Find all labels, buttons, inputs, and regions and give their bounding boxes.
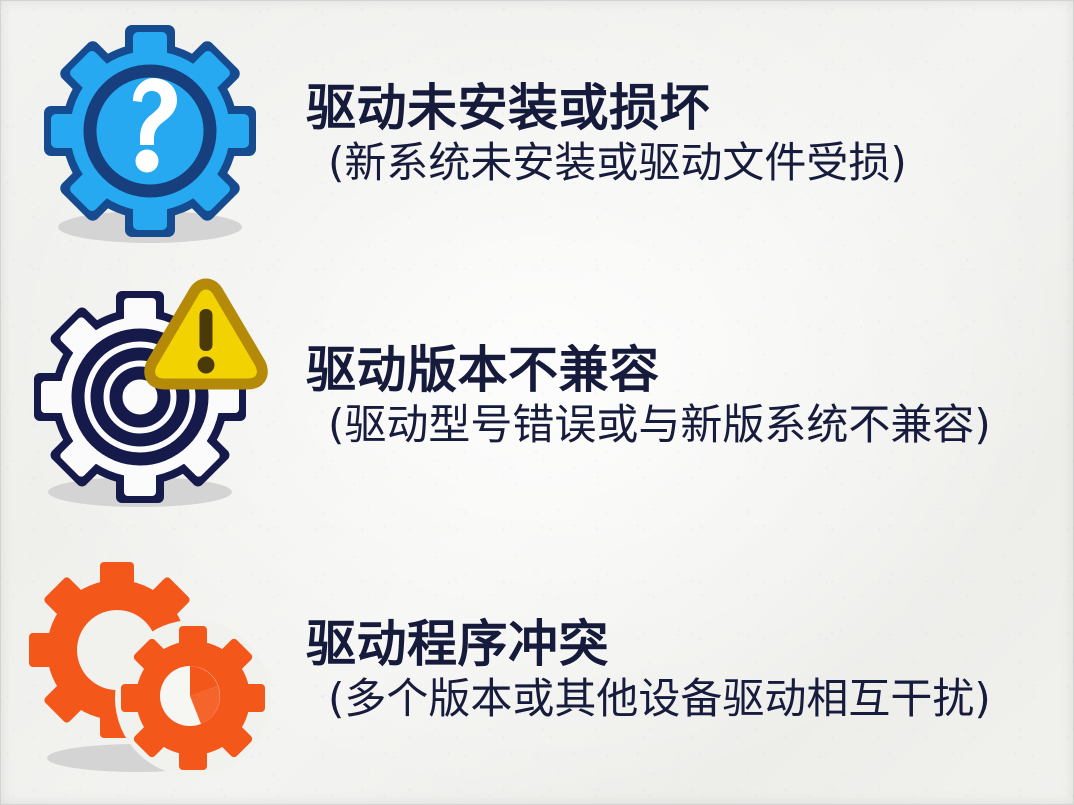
- issue-subline: (新系统未安装或驱动文件受损): [328, 141, 1074, 186]
- gear-question-icon: [0, 9, 300, 259]
- issue-headline: 驱动版本不兼容: [306, 344, 1074, 397]
- list-item: 驱动版本不兼容 (驱动型号错误或与新版系统不兼容): [0, 262, 1074, 530]
- list-item: 驱动未安装或损坏 (新系统未安装或驱动文件受损): [0, 0, 1074, 268]
- slide-canvas: 驱动未安装或损坏 (新系统未安装或驱动文件受损): [0, 0, 1074, 805]
- gear-warning-icon: [0, 271, 300, 521]
- issue-subline: (多个版本或其他设备驱动相互干扰): [328, 677, 1074, 722]
- issue-text-group: 驱动版本不兼容 (驱动型号错误或与新版系统不兼容): [300, 344, 1074, 448]
- warning-triangle-icon: [149, 284, 262, 384]
- issue-headline: 驱动未安装或损坏: [306, 82, 1074, 135]
- issue-headline: 驱动程序冲突: [306, 618, 1074, 671]
- issue-list: 驱动未安装或损坏 (新系统未安装或驱动文件受损): [0, 0, 1074, 805]
- issue-subline: (驱动型号错误或与新版系统不兼容): [328, 403, 1074, 448]
- double-gear-conflict-icon: [0, 545, 300, 795]
- issue-text-group: 驱动程序冲突 (多个版本或其他设备驱动相互干扰): [300, 618, 1074, 722]
- issue-text-group: 驱动未安装或损坏 (新系统未安装或驱动文件受损): [300, 82, 1074, 186]
- list-item: 驱动程序冲突 (多个版本或其他设备驱动相互干扰): [0, 536, 1074, 804]
